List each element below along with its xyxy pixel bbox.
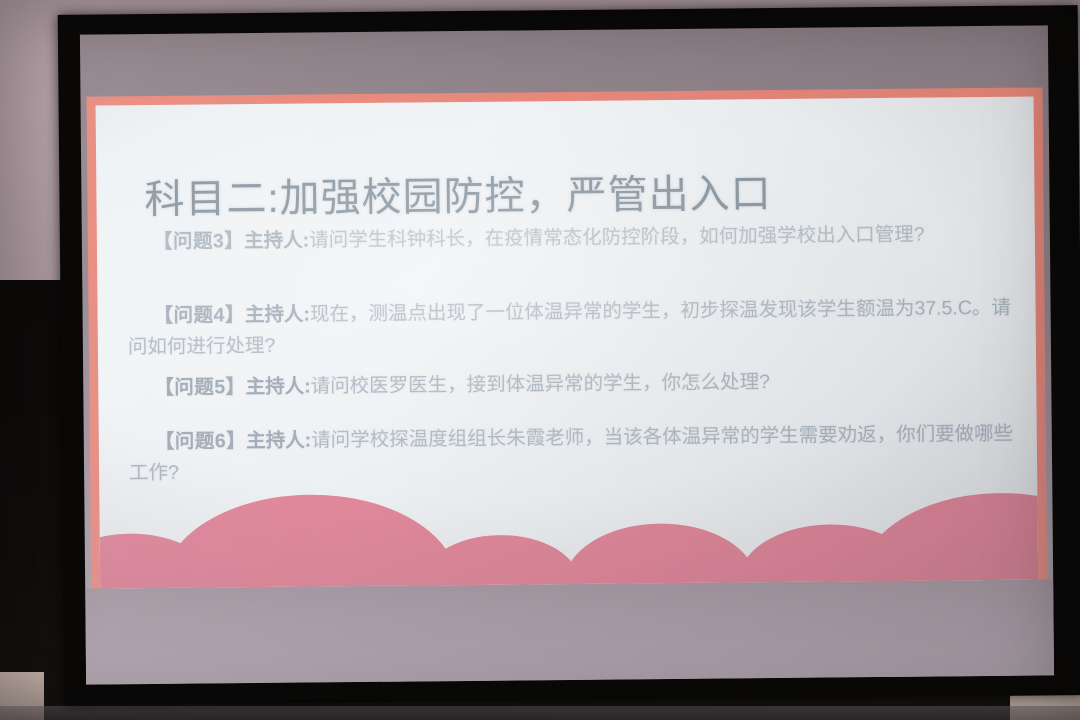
slide-title: 科目二:加强校园防控，严管出入口	[144, 161, 772, 225]
scallop-arch-2	[161, 493, 459, 588]
scallop-arch-group	[99, 487, 1038, 589]
classroom-scene: 科目二:加强校园防控，严管出入口 【问题3】主持人:请问学生科钟科长，在疫情常态…	[0, 0, 1080, 720]
presentation-slide: 科目二:加强校园防控，严管出入口 【问题3】主持人:请问学生科钟科长，在疫情常态…	[96, 97, 1039, 589]
projection-screen-assembly: 科目二:加强校园防控，严管出入口 【问题3】主持人:请问学生科钟科长，在疫情常态…	[54, 1, 1080, 711]
question-tag-q3: 【问题3】	[153, 230, 245, 253]
scallop-decoration	[99, 460, 1038, 589]
question-tag-q5: 【问题5】	[154, 376, 246, 399]
question-text-q5: 请问校医罗医生，接到体温异常的学生，你怎么处理?	[311, 371, 771, 397]
question-tag-q4: 【问题4】	[153, 304, 245, 327]
screen-letterbox-bottom	[85, 579, 1054, 684]
slide-paragraph-q5: 【问题5】主持人:请问校医罗医生，接到体温异常的学生，你怎么处理?	[128, 365, 1018, 405]
scallop-arch-4	[564, 523, 757, 589]
question-speaker-q6: 主持人:	[246, 429, 311, 452]
question-speaker-q3: 主持人:	[244, 229, 309, 252]
question-speaker-q5: 主持人:	[246, 375, 311, 398]
question-text-q3: 请问学生科钟科长，在疫情常态化防控阶段，如何加强学校出入口管理?	[309, 224, 925, 252]
projection-screen-canvas: 科目二:加强校园防控，严管出入口 【问题3】主持人:请问学生科钟科长，在疫情常态…	[80, 25, 1054, 684]
scallop-arch-6	[859, 492, 1038, 589]
scallop-arches-svg	[99, 460, 1038, 589]
question-speaker-q4: 主持人:	[245, 303, 310, 326]
slide-paragraph-q4: 【问题4】主持人:现在，测温点出现了一位体温异常的学生，初步探温发现该学生额温为…	[127, 293, 1018, 364]
question-tag-q6: 【问题6】	[155, 430, 247, 453]
scallop-arch-3	[420, 534, 581, 588]
slide-paragraph-q3: 【问题3】主持人:请问学生科钟科长，在疫情常态化防控阶段，如何加强学校出入口管理…	[127, 219, 1017, 259]
slide-coral-border: 科目二:加强校园防控，严管出入口 【问题3】主持人:请问学生科钟科长，在疫情常态…	[86, 87, 1047, 588]
